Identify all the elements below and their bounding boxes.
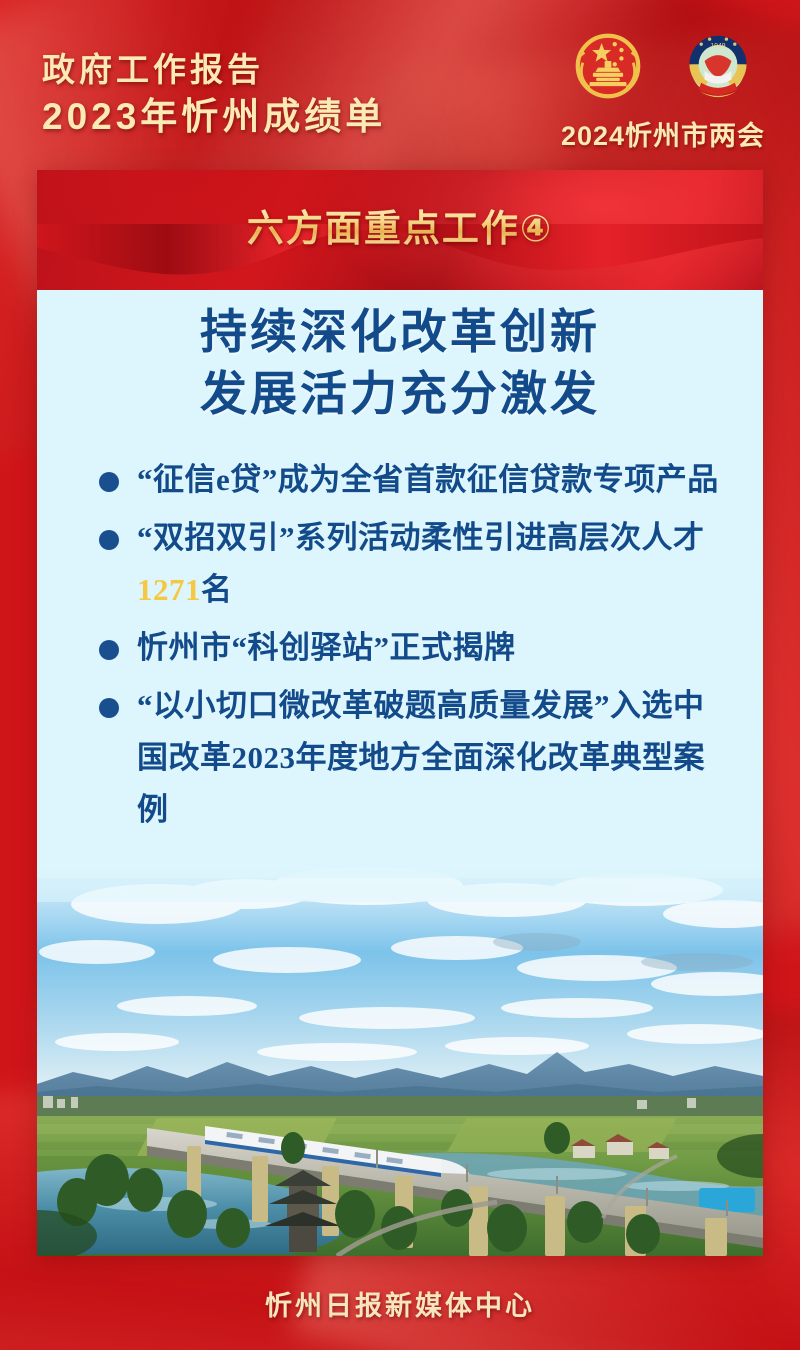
list-item: “双招双引”系列活动柔性引进高层次人才1271名: [99, 512, 719, 616]
bullet-text: “以小切口微改革破题高质量发展”入选中国改革2023年度地方全面深化改革典型案例: [137, 680, 719, 836]
poster-header: 政府工作报告 2023年忻州成绩单: [0, 0, 800, 176]
bullet-text: 忻州市“科创驿站”正式揭牌: [137, 622, 516, 674]
national-emblem-icon: [566, 24, 650, 108]
content-card: 六方面重点工作④: [37, 170, 763, 1256]
two-sessions-label: 2024忻州市两会: [552, 114, 774, 153]
bullet-dot-icon: [99, 530, 119, 550]
bullet-text-post: 名: [201, 572, 233, 607]
bullet-text-pre: “双招双引”系列活动柔性引进高层次人才: [137, 520, 705, 555]
bullet-highlight: 1271: [137, 572, 201, 607]
section-label: 六方面重点工作④: [37, 198, 763, 252]
bullet-text-pre: “征信e贷”成为全省首款征信贷: [137, 462, 561, 497]
poster-footer: 忻州日报新媒体中心: [0, 1256, 800, 1350]
bullet-text-pre: 忻州市“科创驿站”正式揭牌: [137, 630, 516, 665]
bullet-text: “征信e贷”成为全省首款征信贷款专项产品: [137, 454, 719, 506]
bullet-dot-icon: [99, 640, 119, 660]
bullet-text: “双招双引”系列活动柔性引进高层次人才1271名: [137, 512, 719, 616]
card-content: 持续深化改革创新 发展活力充分激发 “征信e贷”成为全省首款征信贷款专项产品 “…: [37, 296, 763, 842]
header-title-line1: 政府工作报告: [42, 50, 386, 90]
footer-text: 忻州日报新媒体中心: [265, 1284, 535, 1323]
list-item: “以小切口微改革破题高质量发展”入选中国改革2023年度地方全面深化改革典型案例: [99, 680, 719, 836]
bullet-text-pre: “以小切口微改革破题高质量发展”入选中国改革2023年度地方全面深化改革典型案例: [137, 688, 705, 827]
landscape-photo: [37, 856, 763, 1256]
bullet-list: “征信e贷”成为全省首款征信贷款专项产品 “双招双引”系列活动柔性引进高层次人才…: [37, 454, 763, 836]
list-item: 忻州市“科创驿站”正式揭牌: [99, 622, 719, 674]
list-item: “征信e贷”成为全省首款征信贷款专项产品: [99, 454, 719, 506]
main-title: 持续深化改革创新 发展活力充分激发: [37, 302, 763, 426]
emblem-row: 1949: [552, 24, 774, 108]
emblem-group: 1949 2024忻州市两会: [552, 24, 774, 153]
bullet-text-post: 款专项产品: [561, 462, 719, 497]
header-title-line2: 2023年忻州成绩单: [42, 94, 386, 140]
svg-text:1949: 1949: [711, 43, 726, 50]
bullet-dot-icon: [99, 698, 119, 718]
bullet-dot-icon: [99, 472, 119, 492]
cppcc-emblem-icon: 1949: [676, 24, 760, 108]
main-title-line2: 发展活力充分激发: [37, 364, 763, 426]
header-title-block: 政府工作报告 2023年忻州成绩单: [42, 50, 386, 140]
main-title-line1: 持续深化改革创新: [37, 302, 763, 364]
